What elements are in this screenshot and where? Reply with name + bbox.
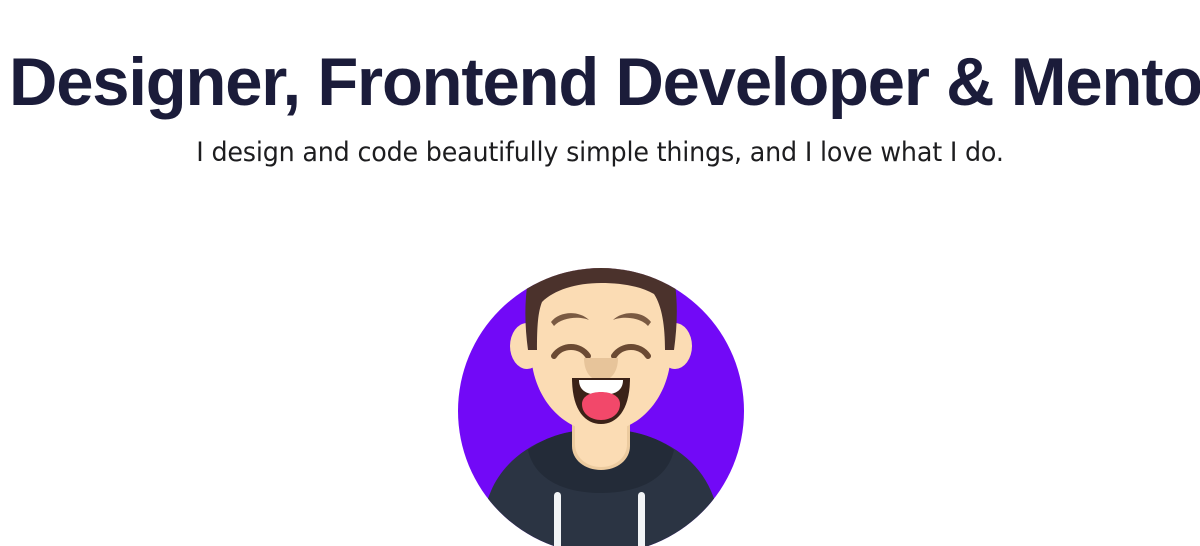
page-subtitle: I design and code beautifully simple thi…: [36, 132, 1164, 174]
hoodie-drawstring-left: [554, 492, 561, 546]
avatar-illustration-svg: [458, 210, 744, 546]
hoodie-drawstring-right: [638, 492, 645, 546]
hero-section: Designer, Frontend Developer & Mentor I …: [0, 0, 1200, 546]
avatar: [458, 210, 744, 546]
page-title: Designer, Frontend Developer & Mentor: [9, 40, 1191, 124]
